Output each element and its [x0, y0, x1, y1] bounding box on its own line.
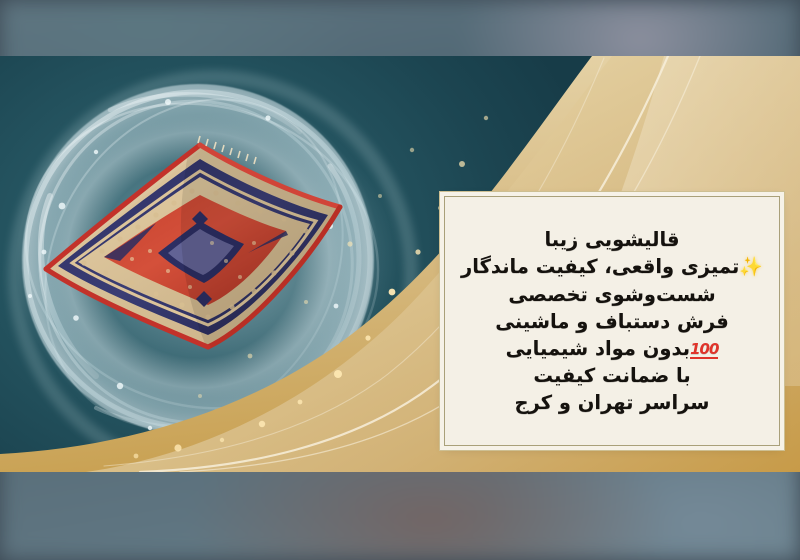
blurred-backdrop-top: [0, 0, 800, 56]
hero-photo: قالیشویی زیبا ✨تمیزی واقعی، کیفیت ماندگا…: [0, 56, 800, 472]
promo-line-tagline: ✨تمیزی واقعی، کیفیت ماندگار: [461, 253, 763, 281]
backdrop-blur-layer: [0, 0, 800, 56]
ad-canvas: قالیشویی زیبا ✨تمیزی واقعی، کیفیت ماندگا…: [0, 0, 800, 560]
promo-text-block: قالیشویی زیبا ✨تمیزی واقعی، کیفیت ماندگا…: [451, 226, 773, 416]
hundred-points-emoji: 100: [690, 342, 718, 359]
service-1-text: شست‌وشوی تخصصی: [508, 283, 715, 306]
backdrop-blur-layer: [0, 472, 800, 560]
blurred-backdrop-bottom: [0, 472, 800, 560]
service-3-text: بدون مواد شیمیایی: [506, 337, 690, 360]
promo-line-service-3: 100بدون مواد شیمیایی: [461, 335, 763, 362]
promo-line-headline: قالیشویی زیبا: [461, 226, 763, 253]
tagline-text: تمیزی واقعی، کیفیت ماندگار: [461, 255, 739, 278]
coverage-text: سراسر تهران و کرج: [515, 391, 710, 414]
service-2-text: فرش دستباف و ماشینی: [495, 310, 729, 333]
promo-line-coverage: سراسر تهران و کرج: [461, 389, 763, 416]
guarantee-text: با ضمانت کیفیت: [533, 364, 690, 387]
headline-text: قالیشویی زیبا: [544, 228, 679, 251]
sparkles-emoji: ✨: [739, 256, 763, 278]
promo-line-service-1: شست‌وشوی تخصصی: [461, 281, 763, 308]
promo-text-card: قالیشویی زیبا ✨تمیزی واقعی، کیفیت ماندگا…: [444, 196, 780, 446]
promo-line-service-2: فرش دستباف و ماشینی: [461, 308, 763, 335]
promo-line-guarantee: با ضمانت کیفیت: [461, 362, 763, 389]
